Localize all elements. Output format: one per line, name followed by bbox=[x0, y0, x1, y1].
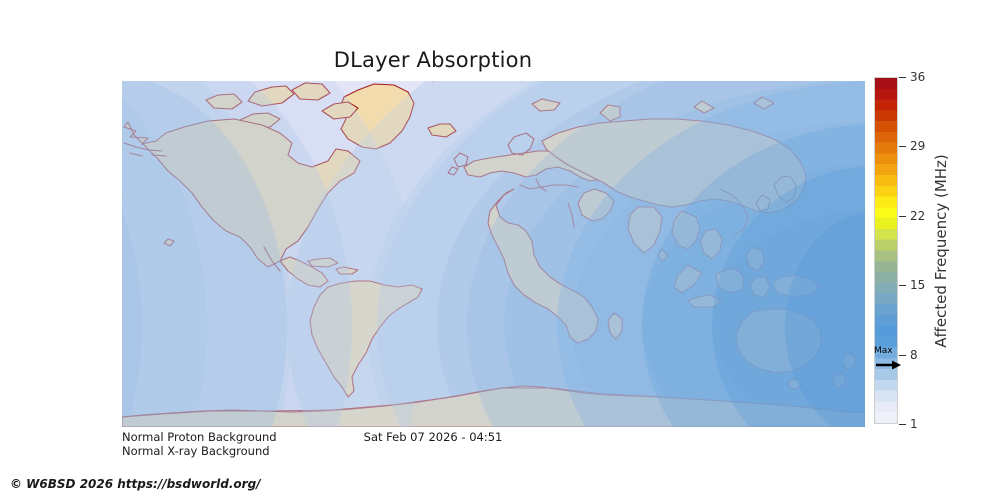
land-north-america bbox=[124, 119, 360, 267]
colorbar-axis-label-text: Affected Frequency (MHz) bbox=[932, 154, 950, 348]
coast-mediterranean bbox=[520, 185, 578, 189]
land-madagascar bbox=[608, 313, 622, 339]
timestamp-label: Sat Feb 07 2026 - 04:51 bbox=[0, 430, 866, 444]
land-new-guinea bbox=[772, 275, 820, 297]
colorbar-tick-label-8: 8 bbox=[910, 348, 918, 362]
land-sulawesi bbox=[750, 277, 770, 297]
land-india bbox=[628, 207, 662, 253]
land-philippines bbox=[746, 247, 764, 271]
coast-nile bbox=[568, 203, 574, 227]
max-arrow-icon bbox=[875, 360, 901, 370]
max-marker-label: Max bbox=[874, 347, 893, 356]
copyright-label: © W6BSD 2026 https://bsdworld.org/ bbox=[10, 477, 261, 491]
land-south-america bbox=[310, 281, 422, 397]
land-novaya-zemlya bbox=[600, 105, 620, 121]
colorbar-tick-22 bbox=[899, 216, 906, 217]
colorbar-tick-29 bbox=[899, 146, 906, 147]
colorbar-tick-1 bbox=[899, 424, 906, 425]
land-iceland bbox=[428, 124, 456, 137]
land-sri-lanka bbox=[658, 249, 668, 261]
land-indochina bbox=[700, 229, 722, 259]
page-title: DLayer Absorption bbox=[0, 48, 866, 72]
land-java bbox=[688, 295, 722, 307]
land-new-zealand bbox=[832, 353, 856, 389]
colorbar-tick-label-29: 29 bbox=[910, 139, 925, 153]
landmass-layer bbox=[122, 81, 865, 427]
map-canvas[interactable] bbox=[122, 81, 865, 427]
status-xray-background: Normal X-ray Background bbox=[122, 444, 270, 458]
colorbar-tick-label-36: 36 bbox=[910, 70, 925, 84]
colorbar-tick-label-22: 22 bbox=[910, 209, 925, 223]
land-svalbard bbox=[532, 99, 560, 111]
colorbar-tick-15 bbox=[899, 285, 906, 286]
land-borneo bbox=[716, 269, 744, 293]
colorbar-axis-label: Affected Frequency (MHz) bbox=[930, 77, 952, 424]
land-misc-island-1 bbox=[164, 239, 174, 246]
colorbar-tick-label-1: 1 bbox=[910, 417, 918, 431]
coast-italy bbox=[536, 179, 546, 191]
land-antarctica bbox=[122, 386, 865, 427]
colorbar-tick-label-15: 15 bbox=[910, 278, 925, 292]
land-sumatra bbox=[674, 265, 702, 293]
land-arctic-islands-2 bbox=[292, 83, 330, 100]
land-misc-island-3 bbox=[754, 97, 774, 109]
land-arctic-islands-1 bbox=[248, 86, 294, 106]
max-marker: Max bbox=[874, 348, 904, 372]
land-australia bbox=[736, 309, 822, 373]
colorbar-tick-36 bbox=[899, 77, 906, 78]
land-middle-east bbox=[578, 189, 614, 221]
land-hispaniola bbox=[336, 267, 358, 274]
land-southeast-asia bbox=[672, 211, 700, 249]
land-cuba bbox=[308, 258, 338, 267]
coast-british-isles bbox=[448, 153, 468, 175]
land-misc-island-2 bbox=[694, 101, 714, 113]
land-arctic-islands-3 bbox=[206, 94, 242, 109]
land-tasmania bbox=[788, 379, 802, 389]
